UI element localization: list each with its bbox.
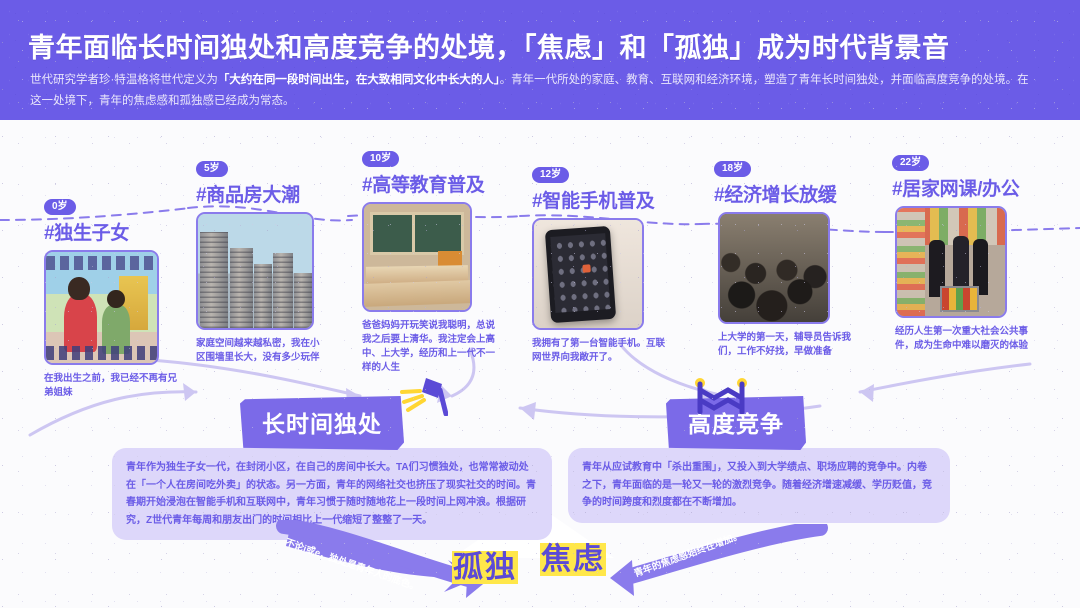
keyword-loneliness-text: 孤独 bbox=[452, 551, 518, 584]
card-title: #经济增长放缓 bbox=[714, 180, 882, 207]
subtitle-lead: 世代研究学者珍·特温格将世代定义为 bbox=[30, 74, 218, 86]
card-title: #商品房大潮 bbox=[196, 180, 346, 207]
tag-long-term-solitude[interactable]: 长时间独处 bbox=[240, 396, 404, 450]
hurdle-icon bbox=[690, 378, 752, 414]
card-note: 我拥有了第一台智能手机。互联网世界向我敞开了。 bbox=[532, 337, 672, 365]
age-badge: 5岁 bbox=[196, 161, 228, 177]
timeline-card[interactable]: 10岁 #高等教育普及 爸爸妈妈开玩笑说我聪明，总说我之后要上清华。我注定会上高… bbox=[362, 148, 522, 375]
card-note: 上大学的第一天，辅导员告诉我们，工作不好找，早做准备 bbox=[718, 331, 866, 359]
subtitle-definition: 「大约在同一段时间出生，在大致相同文化中长大的人」 bbox=[218, 74, 500, 86]
photo-supermarket-shopping bbox=[895, 206, 1007, 318]
card-title: #高等教育普及 bbox=[362, 170, 522, 197]
age-badge: 12岁 bbox=[532, 167, 569, 183]
photo-smartphone bbox=[532, 218, 644, 330]
timeline-card[interactable]: 5岁 #商品房大潮 家庭空间越来越私密，我在小区围墙里长大，没有多少玩伴 bbox=[196, 158, 346, 365]
card-note: 家庭空间越来越私密，我在小区围墙里长大，没有多少玩伴 bbox=[196, 337, 324, 365]
card-title: #智能手机普及 bbox=[532, 186, 697, 213]
card-note: 爸爸妈妈开玩笑说我聪明，总说我之后要上清华。我注定会上高中、上大学，经历和上一代… bbox=[362, 319, 502, 375]
age-badge: 18岁 bbox=[714, 161, 751, 177]
desk-lamp-icon bbox=[396, 374, 448, 416]
card-note: 在我出生之前，我已经不再有兄弟姐妹 bbox=[44, 372, 184, 400]
keyword-loneliness: 孤独 bbox=[452, 542, 518, 586]
keyword-anxiety-text: 焦虑 bbox=[540, 543, 606, 576]
photo-only-child-illustration bbox=[44, 250, 159, 365]
photo-apartment-towers bbox=[196, 212, 314, 330]
age-badge: 10岁 bbox=[362, 151, 399, 167]
timeline-card[interactable]: 0岁 #独生子女 在我出生之前，我已经不再有兄弟姐妹 bbox=[44, 196, 194, 400]
paragraph-competition: 青年从应试教育中「杀出重围」，又投入到大学绩点、职场应聘的竞争中。内卷之下，青年… bbox=[568, 448, 950, 523]
page-subtitle: 世代研究学者珍·特温格将世代定义为「大约在同一段时间出生，在大致相同文化中长大的… bbox=[30, 70, 1040, 112]
arrow-right-to-anxiety bbox=[590, 524, 830, 602]
age-badge: 0岁 bbox=[44, 199, 76, 215]
page-title: 青年面临长时间独处和高度竞争的处境，「焦虑」和「孤独」成为时代背景音 bbox=[28, 26, 950, 65]
timeline-card[interactable]: 12岁 #智能手机普及 我拥有了第一台智能手机。互联网世界向我敞开了。 bbox=[532, 164, 697, 365]
card-title: #独生子女 bbox=[44, 218, 194, 245]
page-header: 青年面临长时间独处和高度竞争的处境，「焦虑」和「孤独」成为时代背景音 世代研究学… bbox=[0, 0, 1080, 120]
card-note: 经历人生第一次重大社会公共事件，成为生命中难以磨灭的体验 bbox=[895, 325, 1045, 353]
card-title: #居家网课/办公 bbox=[892, 174, 1072, 201]
keyword-anxiety: 焦虑 bbox=[540, 534, 606, 578]
age-badge: 22岁 bbox=[892, 155, 929, 171]
timeline-card[interactable]: 22岁 #居家网课/办公 经历人生第一次重大社会公共事件，成为生命中难以磨灭的体… bbox=[892, 152, 1072, 353]
photo-classroom-blackboard bbox=[362, 202, 472, 312]
timeline-card[interactable]: 18岁 #经济增长放缓 上大学的第一天，辅导员告诉我们，工作不好找，早做准备 bbox=[714, 158, 882, 359]
photo-job-fair-crowd bbox=[718, 212, 830, 324]
